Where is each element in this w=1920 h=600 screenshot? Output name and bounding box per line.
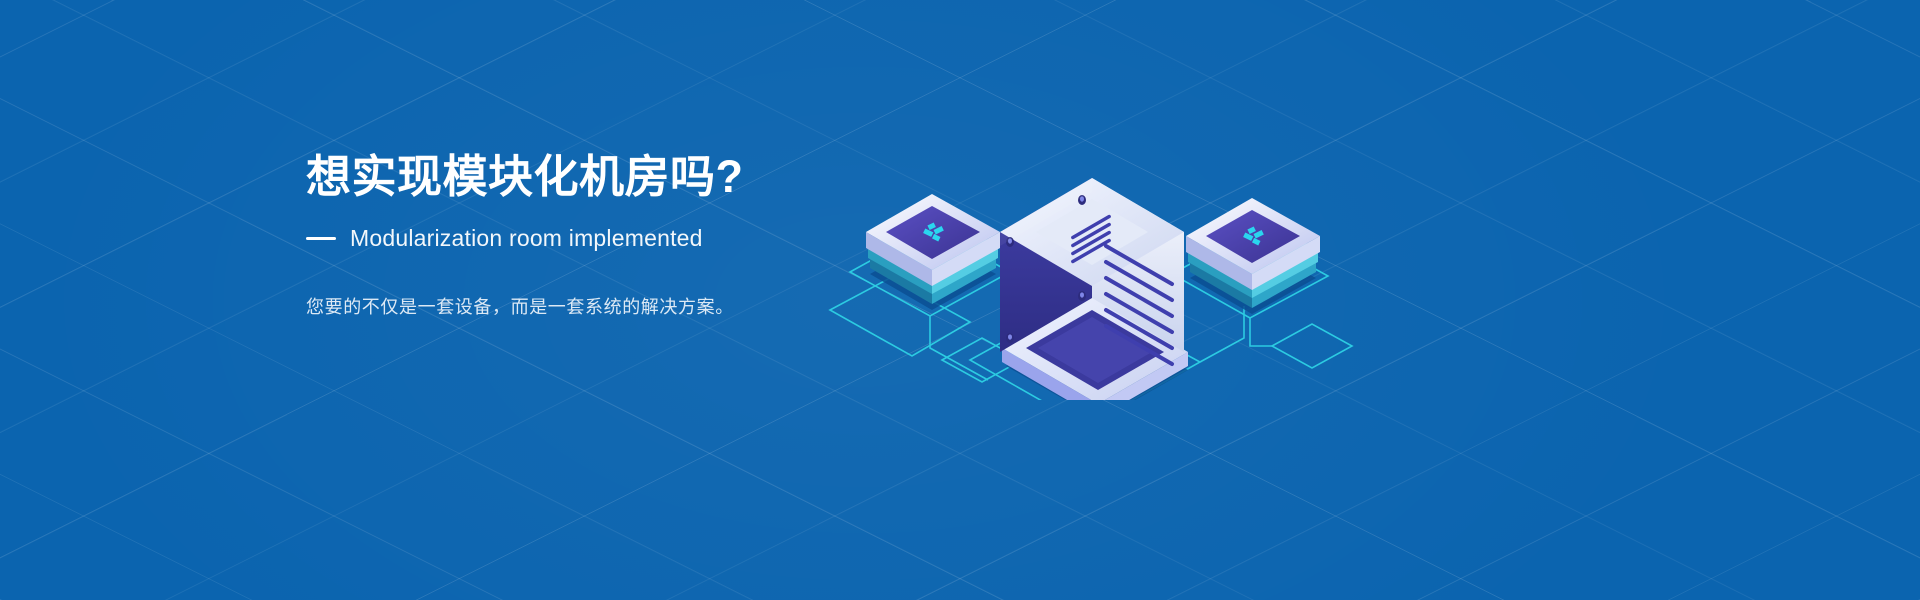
server-tower: [1000, 178, 1188, 400]
chip-module-right: [1186, 198, 1320, 314]
hero-banner: 想实现模块化机房吗? Modularization room implement…: [0, 0, 1920, 600]
dash-icon: [306, 237, 336, 240]
server-room-illustration: [820, 60, 1380, 400]
subtitle-english: Modularization room implemented: [350, 225, 703, 253]
